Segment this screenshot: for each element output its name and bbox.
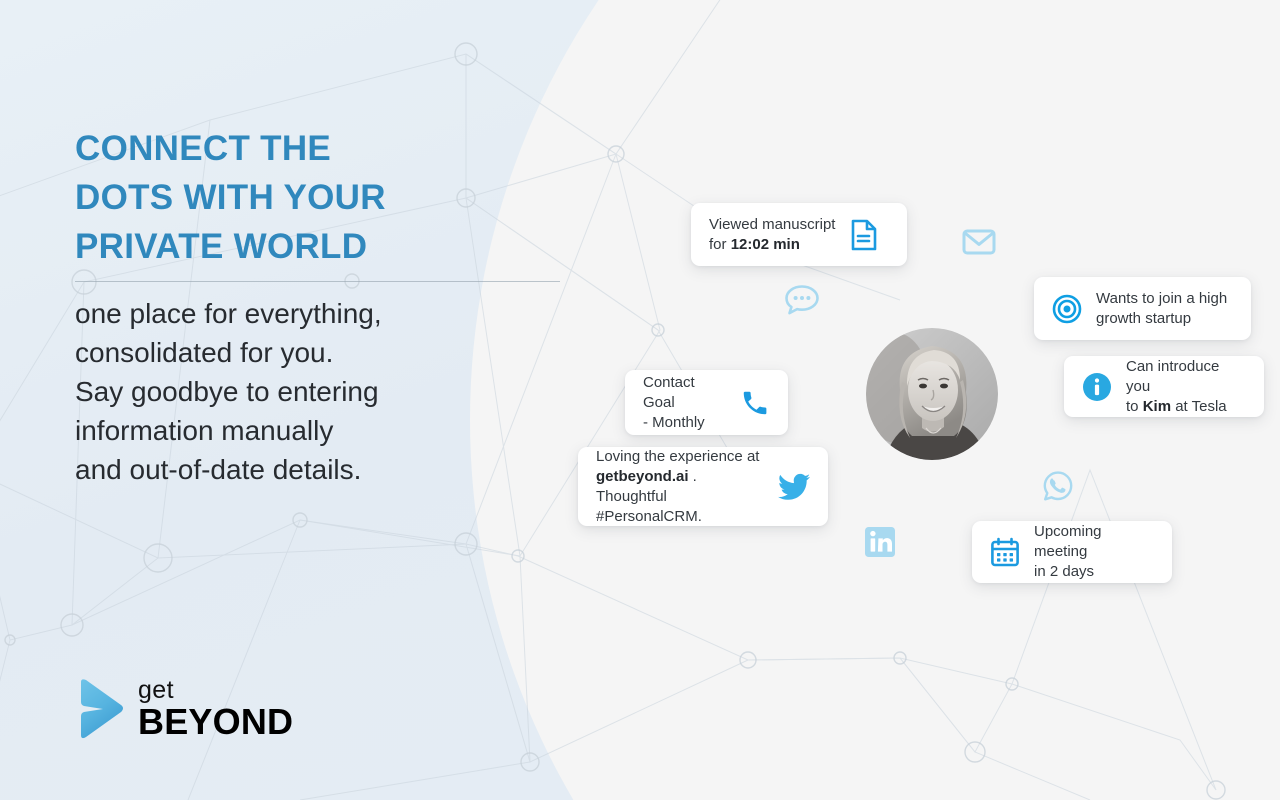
headline-line-2: DOTS WITH YOUR: [75, 178, 386, 217]
subcopy-line-5: and out-of-date details.: [75, 454, 361, 485]
logo-get-text: get: [138, 678, 293, 703]
mail-icon[interactable]: [962, 228, 996, 261]
card-line-2-pre: for: [709, 236, 731, 253]
card-line-1: Can introduce you: [1126, 357, 1246, 397]
card-tweet[interactable]: Loving the experience at getbeyond.ai . …: [578, 447, 828, 526]
target-icon: [1052, 294, 1082, 324]
card-line-1: Upcoming meeting: [1034, 522, 1154, 562]
card-line-2-post: at Tesla: [1171, 398, 1227, 415]
twitter-icon: [778, 473, 810, 501]
card-line-2-pre: to: [1126, 398, 1143, 415]
headline-divider: [75, 281, 560, 282]
headline-line-3: PRIVATE WORLD: [75, 227, 367, 266]
document-icon: [851, 219, 877, 251]
logo-beyond-text: BEYOND: [138, 704, 293, 740]
card-line-3: #PersonalCRM.: [596, 507, 762, 527]
slide-canvas: CONNECT THE DOTS WITH YOUR PRIVATE WORLD…: [0, 0, 1280, 800]
linkedin-icon[interactable]: [864, 526, 896, 563]
card-contact-goal[interactable]: Contact Goal - Monthly: [625, 370, 788, 435]
card-line-2: in 2 days: [1034, 562, 1154, 582]
avatar: [866, 328, 998, 460]
subcopy-line-2: consolidated for you.: [75, 337, 333, 368]
chat-bubble-icon[interactable]: [784, 284, 820, 321]
card-introduction[interactable]: Can introduce you to Kim at Tesla: [1064, 356, 1264, 417]
card-line-1: Contact Goal: [643, 373, 724, 413]
avatar-portrait-image: [866, 328, 998, 460]
card-line-2: growth startup: [1096, 309, 1227, 329]
page-title: CONNECT THE DOTS WITH YOUR PRIVATE WORLD: [75, 124, 575, 271]
calendar-icon: [990, 537, 1020, 567]
chevron-logo-icon: [78, 678, 124, 740]
card-line-2-bold: 12:02 min: [731, 236, 800, 253]
subcopy-line-4: information manually: [75, 415, 333, 446]
subcopy-line-3: Say goodbye to entering: [75, 376, 379, 407]
card-viewed-manuscript[interactable]: Viewed manuscript for 12:02 min: [691, 203, 907, 266]
card-line-1: Loving the experience at: [596, 447, 762, 467]
subcopy-line-1: one place for everything,: [75, 298, 382, 329]
info-icon: [1082, 372, 1112, 402]
card-upcoming-meeting[interactable]: Upcoming meeting in 2 days: [972, 521, 1172, 583]
card-line-1: Wants to join a high: [1096, 289, 1227, 309]
card-line-1: Viewed manuscript: [709, 215, 835, 235]
card-wants-startup[interactable]: Wants to join a high growth startup: [1034, 277, 1251, 340]
card-line-2: - Monthly: [643, 413, 724, 433]
card-line-2-bold: getbeyond.ai: [596, 468, 689, 485]
brand-logo[interactable]: get BEYOND: [78, 678, 293, 740]
card-line-2-bold: Kim: [1143, 398, 1171, 415]
headline-line-1: CONNECT THE: [75, 129, 331, 168]
hero-subcopy: one place for everything, consolidated f…: [75, 294, 545, 489]
whatsapp-icon[interactable]: [1042, 470, 1074, 507]
phone-icon: [740, 388, 770, 418]
